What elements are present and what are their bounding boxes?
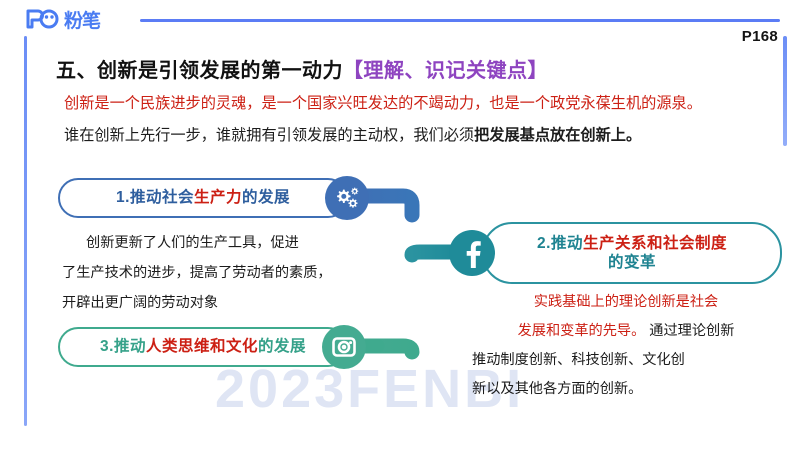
intro-line-1-text: 创新是一个民族进步的灵魂，是一个国家兴旺发达的不竭动力，也是一个政党永葆生机的源… — [64, 95, 702, 112]
topic-box-3-index: 3. — [100, 338, 114, 355]
topic-box-3-highlight: 人类思维和文化 — [146, 338, 258, 355]
topic-box-1-highlight: 生产力 — [194, 189, 242, 206]
topic-box-1-pre: 推动社会 — [130, 189, 194, 206]
brand-logo: 粉笔 — [26, 9, 100, 33]
intro-line-1: 创新是一个民族进步的灵魂，是一个国家兴旺发达的不竭动力，也是一个政党永葆生机的源… — [64, 88, 776, 120]
topic-box-3[interactable]: 3.推动人类思维和文化的发展 — [58, 327, 348, 367]
camera-icon — [322, 325, 366, 369]
left-accent-bar — [24, 36, 27, 426]
body-right-line-1: 实践基础上的理论创新是社会 — [466, 288, 786, 317]
gears-icon — [325, 176, 369, 220]
topic-box-2-highlight: 生产关系和社会制度 — [583, 235, 727, 252]
intro-paragraph: 创新是一个民族进步的灵魂，是一个国家兴旺发达的不竭动力，也是一个政党永葆生机的源… — [64, 88, 776, 152]
body-right-line-2: 发展和变革的先导。 通过理论创新 — [466, 317, 786, 346]
topic-box-1-index: 1. — [116, 189, 130, 206]
topic-box-2[interactable]: 2.推动生产关系和社会制度的变革 — [482, 222, 782, 284]
body-left-line-2: 了生产技术的进步，提高了劳动者的素质， — [62, 258, 357, 288]
intro-line-2-bold: 把发展基点放在创新上。 — [474, 127, 641, 144]
header-rule — [140, 19, 780, 22]
body-right-red-2: 发展和变革的先导。 — [518, 323, 646, 339]
intro-line-2: 谁在创新上先行一步，谁就拥有引领发展的主动权，我们必须把发展基点放在创新上。 — [64, 120, 776, 152]
page-title: 五、创新是引领发展的第一动力【理解、识记关键点】 — [56, 54, 548, 83]
body-right-line-4: 新以及其他各方面的创新。 — [466, 375, 786, 404]
slide-canvas: 2023FENBI 粉笔 P168 五、创新是引领发展的第一动力【理解、识记关键… — [0, 0, 800, 450]
body-text-left: 创新更新了人们的生产工具，促进 了生产技术的进步，提高了劳动者的素质， 开辟出更… — [62, 228, 357, 318]
topic-box-1-label: 1.推动社会生产力的发展 — [116, 188, 290, 207]
body-right-red-1: 实践基础上的理论创新是社会 — [534, 294, 718, 310]
facebook-f-icon — [449, 230, 495, 276]
topic-box-2-index: 2. — [537, 235, 551, 252]
body-right-line-3: 推动制度创新、科技创新、文化创 — [466, 346, 786, 375]
page-title-main: 五、创新是引领发展的第一动力 — [56, 60, 343, 82]
body-right-black-2: 通过理论创新 — [649, 323, 734, 339]
topic-box-3-pre: 推动 — [114, 338, 146, 355]
topic-box-1[interactable]: 1.推动社会生产力的发展 — [58, 178, 348, 218]
fb-logo-icon — [26, 8, 60, 35]
topic-box-2-label: 2.推动生产关系和社会制度的变革 — [537, 234, 727, 273]
body-left-line-3: 开辟出更广阔的劳动对象 — [62, 288, 357, 318]
topic-box-2-pre: 推动 — [551, 235, 583, 252]
topic-box-3-post: 的发展 — [258, 338, 306, 355]
body-left-line-1: 创新更新了人们的生产工具，促进 — [62, 228, 357, 258]
right-accent-bar — [783, 36, 787, 146]
topic-box-1-post: 的发展 — [242, 189, 290, 206]
intro-line-2-plain: 谁在创新上先行一步，谁就拥有引领发展的主动权，我们必须 — [64, 127, 474, 144]
brand-logo-text: 粉笔 — [64, 12, 100, 31]
topic-box-3-label: 3.推动人类思维和文化的发展 — [100, 337, 306, 356]
topic-box-2-post: 的变革 — [608, 254, 656, 271]
page-number: P168 — [742, 28, 778, 45]
page-title-bracket: 【理解、识记关键点】 — [343, 60, 548, 82]
body-text-right: 实践基础上的理论创新是社会 发展和变革的先导。 通过理论创新 推动制度创新、科技… — [466, 288, 786, 404]
